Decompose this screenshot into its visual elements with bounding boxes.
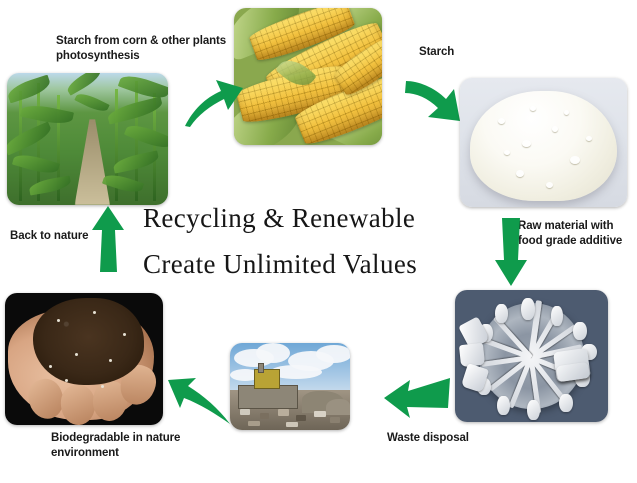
corn-field-photo — [7, 73, 168, 205]
diagram-title-line-2: Create Unlimited Values — [143, 249, 417, 280]
arrow-starch-to-tableware — [494, 218, 528, 286]
arrow-compost-to-cornfield — [90, 206, 126, 272]
arrow-corncobs-to-starch — [404, 75, 466, 127]
compost-photo — [5, 293, 163, 425]
label-biodegradable: Biodegradable in nature environment — [51, 431, 211, 460]
diagram-title-line-1: Recycling & Renewable — [143, 203, 415, 234]
arrow-tableware-to-landfill — [384, 376, 450, 420]
label-starch-from-corn: Starch from corn & other plants photosyn… — [56, 34, 242, 63]
label-starch: Starch — [419, 45, 454, 60]
recycling-cycle-diagram: Starch from corn & other plants photosyn… — [0, 0, 637, 483]
corn-cobs-photo — [234, 8, 382, 145]
tableware-photo — [455, 290, 608, 422]
label-raw-material: Raw material with food grade additive — [518, 219, 636, 248]
label-back-to-nature: Back to nature — [10, 229, 88, 244]
label-waste-disposal: Waste disposal — [387, 431, 469, 446]
starch-powder-photo — [460, 78, 627, 207]
arrow-cornfield-to-corncobs — [183, 76, 245, 128]
landfill-photo — [230, 343, 350, 430]
arrow-landfill-to-compost — [166, 376, 232, 426]
